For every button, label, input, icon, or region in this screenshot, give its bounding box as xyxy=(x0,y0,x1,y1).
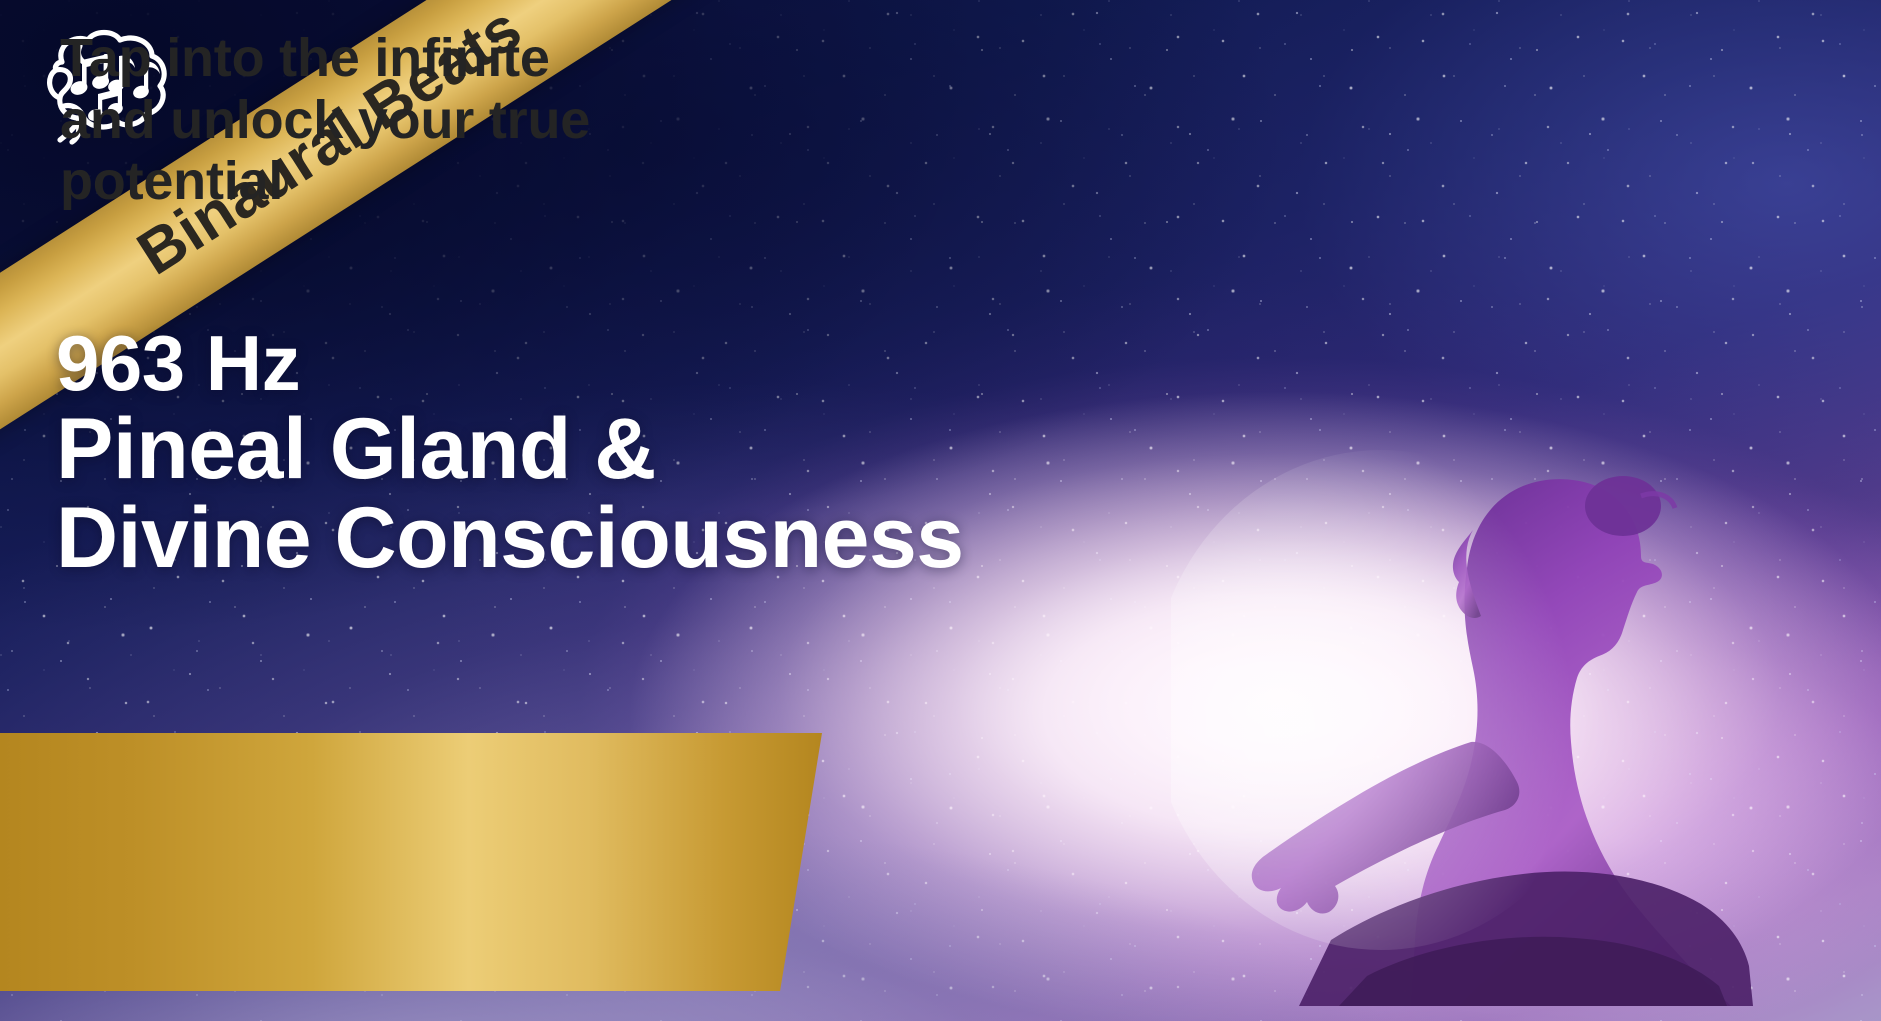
headline-line-1: 963 Hz xyxy=(56,326,976,402)
subtitle-line-3: potential xyxy=(60,151,740,213)
subtitle-line-1: Tap into the infinite xyxy=(60,28,740,90)
headline-line-3: Divine Consciousness xyxy=(56,497,976,580)
page-title: 963 Hz Pineal Gland & Divine Consciousne… xyxy=(56,326,976,580)
subtitle-banner xyxy=(0,733,822,991)
video-thumbnail: Binaural Beats xyxy=(0,0,1881,1021)
headline-line-2: Pineal Gland & xyxy=(56,408,976,491)
subtitle-text: Tap into the infinite and unlock your tr… xyxy=(60,28,740,213)
subtitle-line-2: and unlock your true xyxy=(60,90,740,152)
